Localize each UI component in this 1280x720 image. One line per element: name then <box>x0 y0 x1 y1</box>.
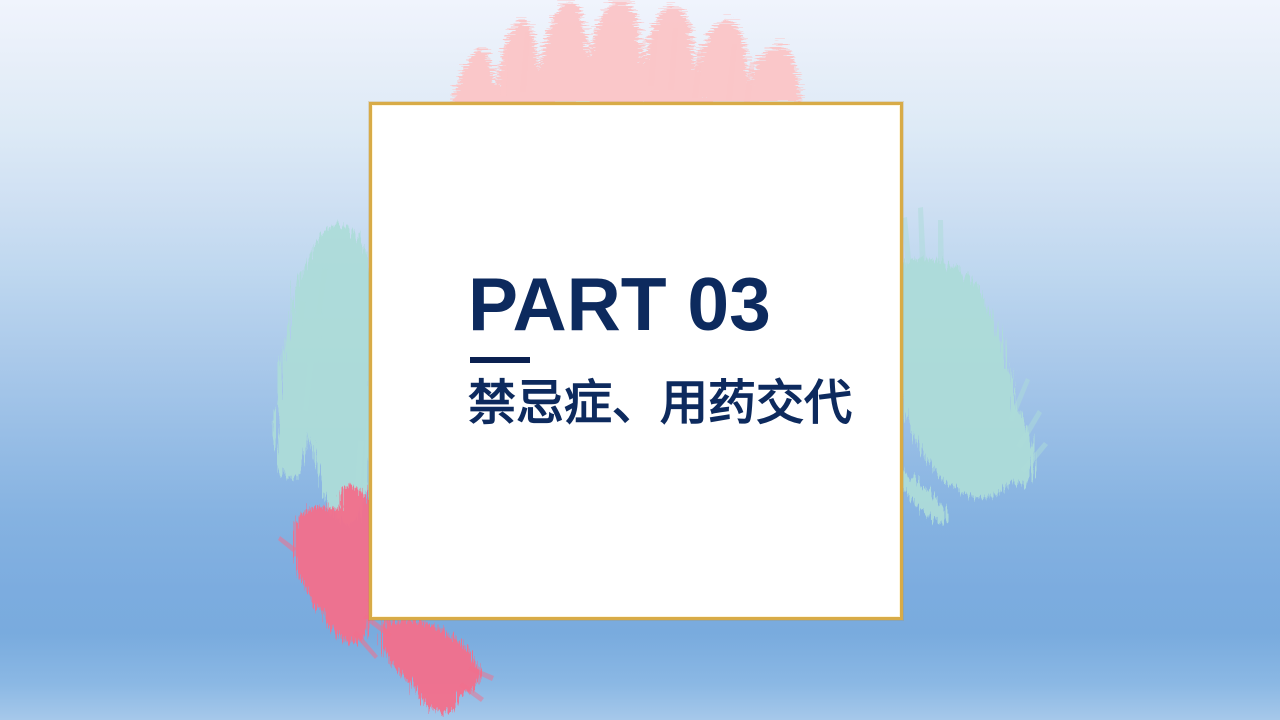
section-subtitle: 禁忌症、用药交代 <box>468 377 888 431</box>
title-block: PART 03 禁忌症、用药交代 <box>468 269 888 431</box>
brush-stroke-pink-top-icon <box>452 0 802 104</box>
brush-stroke-mint-left-icon <box>276 224 372 524</box>
brush-stroke-mint-left-wisps-icon <box>292 268 372 503</box>
title-divider <box>470 357 530 363</box>
brush-stroke-rose-bottom-wisps-icon <box>459 666 494 702</box>
brush-stroke-mint-right-wisps-icon <box>902 207 1048 473</box>
brush-stroke-pink-top-wisps-icon <box>500 28 755 102</box>
slide-canvas: PART 03 禁忌症、用药交代 <box>0 0 1280 720</box>
content-card: PART 03 禁忌症、用药交代 <box>369 102 903 620</box>
page-title: PART 03 <box>468 269 888 340</box>
brush-stroke-mint-right-icon <box>893 258 1035 523</box>
brush-stroke-rose-bottom-icon <box>381 620 480 712</box>
